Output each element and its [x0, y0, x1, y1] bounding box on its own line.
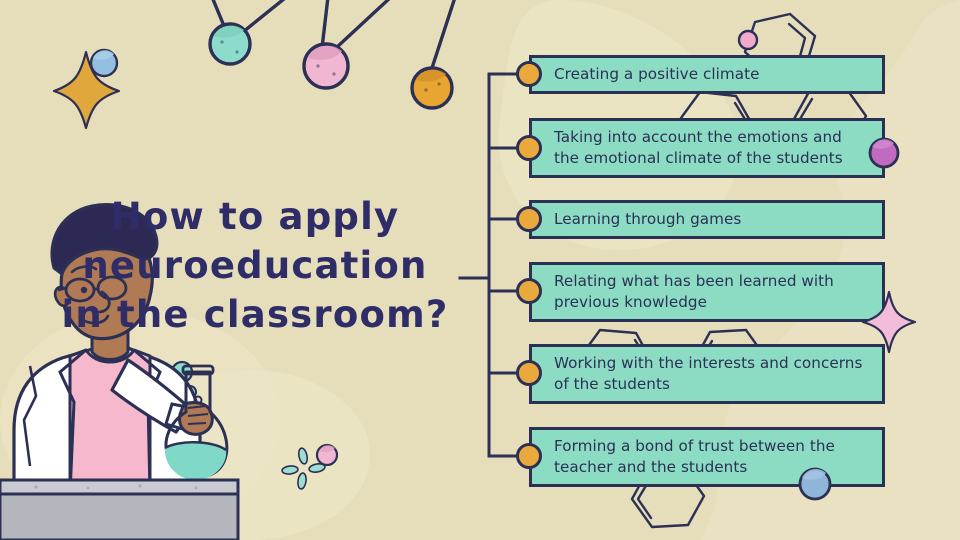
slide-root: How to apply neuroeducation in the class…	[0, 0, 960, 540]
foreground-decorations	[0, 0, 960, 540]
